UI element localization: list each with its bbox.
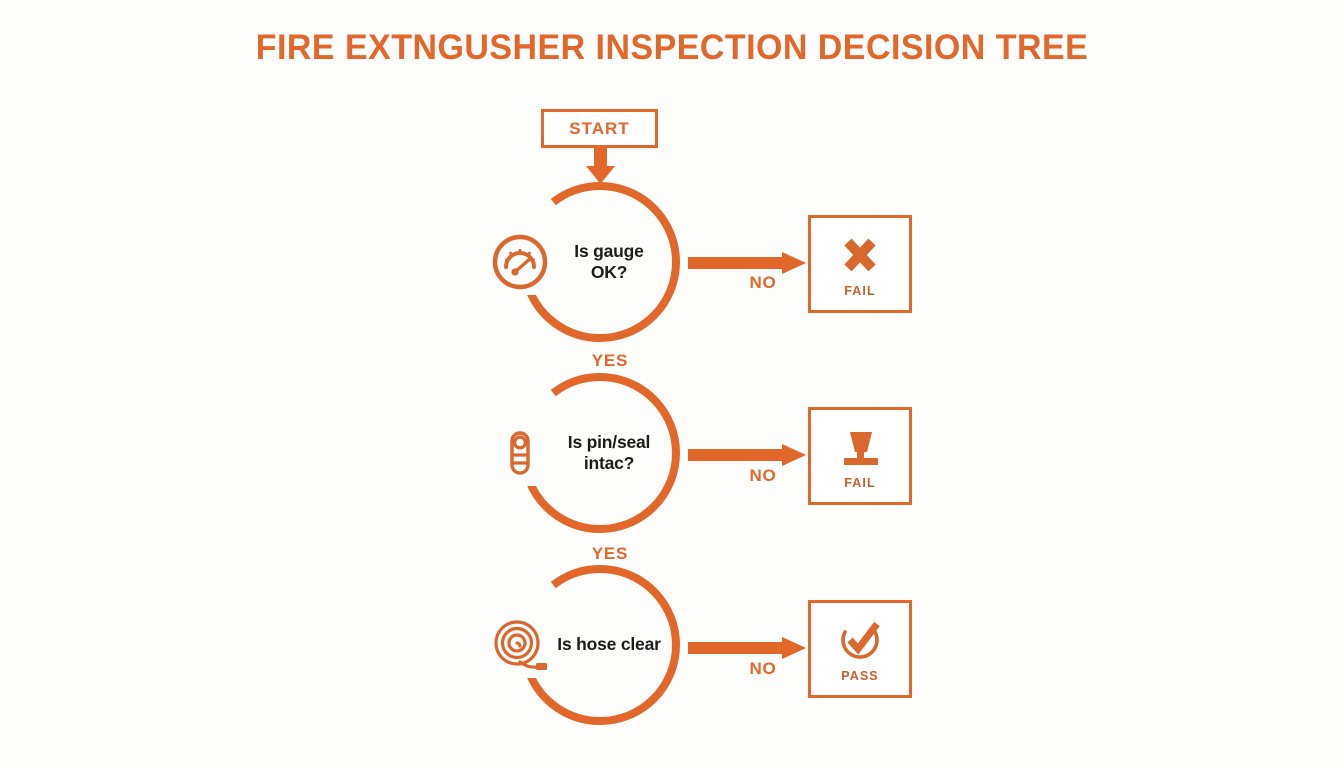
question-line-1: Is pin/seal <box>568 432 650 453</box>
decision-question-hose: Is hose clear <box>537 564 681 726</box>
edge-label-yes-gauge: YES <box>550 351 670 371</box>
start-node[interactable]: START <box>541 109 658 148</box>
outcome-label: FAIL <box>844 476 875 490</box>
outcome-label: PASS <box>841 669 879 683</box>
decision-node-pin-seal[interactable]: Is pin/seal intac? <box>519 372 681 534</box>
arrow-start-to-gauge <box>586 148 615 184</box>
arrow-no-gauge <box>688 252 806 274</box>
x-mark-icon <box>833 230 887 282</box>
diagram-canvas: FIRE EXTNGUSHER INSPECTION DECISION TREE <box>0 0 1344 768</box>
decision-node-gauge[interactable]: Is gauge OK? <box>519 181 681 343</box>
outcome-label: FAIL <box>844 284 875 298</box>
edge-label-no-pin-seal: NO <box>723 466 803 486</box>
question-line-2: OK? <box>591 262 627 283</box>
arrow-no-pin-seal <box>688 444 806 466</box>
outcome-node-fail-seal[interactable]: FAIL <box>808 407 912 505</box>
coiled-hose-icon <box>487 612 553 678</box>
edge-label-no-gauge: NO <box>723 273 803 293</box>
question-line-1: Is hose clear <box>557 634 660 655</box>
pin-seal-icon <box>487 420 553 486</box>
broken-seal-stamp-icon <box>833 422 887 474</box>
edge-label-yes-pin-seal: YES <box>550 544 670 564</box>
decision-question-gauge: Is gauge OK? <box>537 181 681 343</box>
edge-label-no-hose: NO <box>723 659 803 679</box>
start-label: START <box>569 119 629 139</box>
pressure-gauge-icon <box>487 229 553 295</box>
question-line-2: intac? <box>584 453 634 474</box>
decision-question-pin-seal: Is pin/seal intac? <box>537 372 681 534</box>
outcome-node-pass-hose[interactable]: PASS <box>808 600 912 698</box>
outcome-node-fail-gauge[interactable]: FAIL <box>808 215 912 313</box>
decision-node-hose[interactable]: Is hose clear <box>519 564 681 726</box>
check-circle-icon <box>833 615 887 667</box>
question-line-1: Is gauge <box>574 241 643 262</box>
arrow-no-hose <box>688 637 806 659</box>
